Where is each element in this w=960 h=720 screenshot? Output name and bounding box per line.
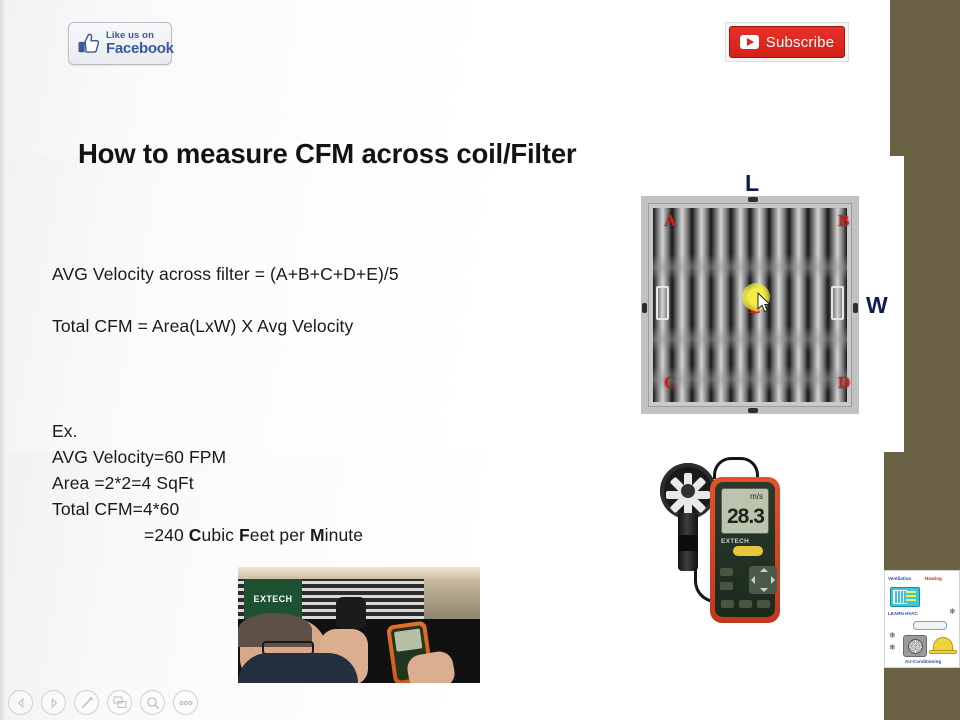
chevron-right-icon [49, 698, 59, 708]
duct-panel [424, 579, 480, 619]
facebook-wordmark: Facebook [106, 41, 174, 56]
example-line-1: Ex. [52, 418, 363, 444]
meter-dpad[interactable] [749, 566, 777, 594]
filter-label-d: D [838, 373, 850, 393]
hvac-course-thumbnail[interactable]: Ventilation Heating LEARN HVAC ❄ ❄ ❄ Air… [884, 570, 960, 668]
formula-total-cfm: Total CFM = Area(LxW) X Avg Velocity [52, 316, 353, 337]
slides-panel-button[interactable] [107, 690, 132, 715]
previous-slide-button[interactable] [8, 690, 33, 715]
meter-button-bottom-1[interactable] [721, 600, 734, 608]
pen-annotate-button[interactable] [74, 690, 99, 715]
technician-shoulder [238, 653, 358, 683]
thumb-snowflake-icon-2: ❄ [889, 643, 896, 652]
pen-icon [80, 696, 94, 710]
example-line-4: Total CFM=4*60 [52, 496, 363, 522]
presentation-player: Like us on Facebook Subscribe How to mea… [0, 0, 960, 720]
thumb-label-learn-hvac: LEARN HVAC [888, 611, 918, 616]
zoom-button[interactable] [140, 690, 165, 715]
mouse-cursor-icon [757, 292, 771, 313]
technician-measuring-photo: EXTECH [238, 567, 480, 683]
meter-button-left-1[interactable] [720, 568, 733, 576]
meter-button-left-2[interactable] [720, 582, 733, 590]
example-bold-f: F [239, 525, 250, 545]
example-block: Ex. AVG Velocity=60 FPM Area =2*2=4 SqFt… [52, 418, 363, 548]
facebook-like-badge[interactable]: Like us on Facebook [68, 22, 172, 65]
meter-reading: 28.3 [727, 505, 764, 529]
player-toolbar [8, 690, 198, 715]
filter-label-width: W [866, 292, 888, 319]
filter-tab-right [853, 303, 858, 313]
chevron-left-icon [16, 698, 26, 708]
filter-clip-left [656, 286, 669, 320]
meter-body: m/s 28.3 EXTECH [710, 477, 780, 623]
thumb-label-air-conditioning: Air-Conditioning [905, 659, 941, 664]
filter-label-c: C [664, 373, 676, 393]
slide-right-gap [884, 0, 890, 156]
example-line-2: AVG Velocity=60 FPM [52, 444, 363, 470]
example-line-3: Area =2*2=4 SqFt [52, 470, 363, 496]
thumb-ahu-icon [890, 587, 920, 607]
meter-face: m/s 28.3 EXTECH [715, 482, 775, 617]
thumb-snowflake-icon-1: ❄ [889, 631, 896, 640]
thumb-split-unit-icon [913, 621, 947, 630]
example-inute: inute [325, 525, 363, 545]
subscribe-label: Subscribe [766, 34, 835, 51]
example-bold-m: M [310, 525, 325, 545]
thumb-label-heating: Heating [925, 576, 942, 581]
page-title: How to measure CFM across coil/Filter [78, 138, 576, 170]
filter-clip-right [831, 286, 844, 320]
filter-tab-left [642, 303, 647, 313]
ceiling-band [238, 567, 480, 579]
thumb-snowflake-icon-3: ❄ [949, 607, 956, 616]
more-options-button[interactable] [173, 690, 198, 715]
meter-lcd-unit: m/s [750, 492, 763, 501]
vane-head [660, 463, 716, 519]
subscribe-button-frame: Subscribe [725, 22, 849, 62]
filter-label-a: A [664, 211, 676, 231]
next-slide-button[interactable] [41, 690, 66, 715]
example-result-prefix: =240 [144, 525, 189, 545]
meter-button-bottom-3[interactable] [757, 600, 770, 608]
thumb-condenser-icon [903, 635, 927, 657]
anemometer-photo: m/s 28.3 EXTECH [658, 455, 798, 623]
youtube-play-icon [740, 35, 759, 49]
filter-tab-top [748, 197, 758, 202]
filter-label-length: L [745, 170, 759, 197]
subscribe-button[interactable]: Subscribe [729, 26, 845, 58]
example-bold-c: C [189, 525, 202, 545]
filter-tab-bottom [748, 408, 758, 413]
thumbs-up-icon [76, 31, 101, 57]
meter-brand: EXTECH [721, 538, 749, 545]
magnifier-icon [146, 696, 160, 710]
example-ubic: ubic [202, 525, 239, 545]
meter-mode-button[interactable] [733, 546, 763, 556]
thumb-label-ventilation: Ventilation [888, 576, 911, 581]
example-line-5: =240 Cubic Feet per Minute [52, 522, 363, 548]
vane-handle [678, 513, 698, 571]
filter-label-b: B [838, 211, 849, 231]
example-eet-per: eet per [250, 525, 310, 545]
left-edge-strip [0, 0, 7, 720]
probe-cord-loop [713, 457, 759, 479]
slides-icon [113, 696, 127, 709]
ellipsis-icon [178, 700, 194, 706]
formula-avg-velocity: AVG Velocity across filter = (A+B+C+D+E)… [52, 264, 399, 285]
extech-logo-text: EXTECH [254, 594, 293, 604]
facebook-like-text: Like us on [106, 31, 174, 41]
thumb-hardhat-icon [933, 637, 953, 651]
thumb-hardhat-brim [929, 650, 957, 654]
meter-button-bottom-2[interactable] [739, 600, 752, 608]
meter-lcd: m/s 28.3 [721, 488, 769, 534]
probe-at-vent [336, 597, 366, 629]
